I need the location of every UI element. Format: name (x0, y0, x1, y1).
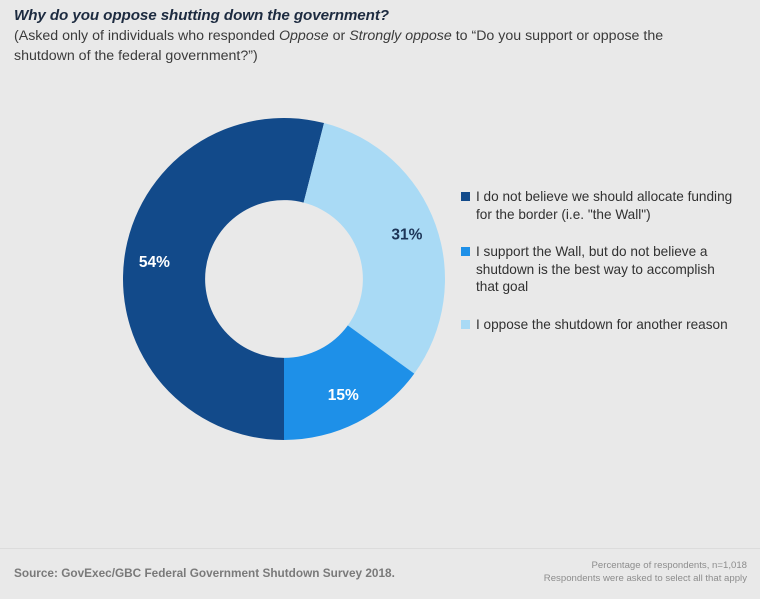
legend-item[interactable]: I do not believe we should allocate fund… (461, 188, 737, 223)
donut-svg: 54%31%15% (123, 118, 445, 440)
legend-item-label: I do not believe we should allocate fund… (476, 188, 737, 223)
respondents-note-line1: Percentage of respondents, n=1,018 (544, 560, 747, 573)
legend-swatch-icon (461, 192, 470, 201)
legend-item[interactable]: I support the Wall, but do not believe a… (461, 243, 737, 296)
legend-item-label: I support the Wall, but do not believe a… (476, 243, 737, 296)
legend-swatch-icon (461, 247, 470, 256)
chart-area: 54%31%15% I do not believe we should all… (0, 96, 760, 486)
donut-slice[interactable] (304, 123, 445, 374)
source-note: Source: GovExec/GBC Federal Government S… (14, 566, 395, 580)
respondents-note: Percentage of respondents, n=1,018 Respo… (544, 560, 747, 585)
respondents-note-line2: Respondents were asked to select all tha… (544, 573, 747, 586)
slice-value-label: 31% (391, 226, 422, 243)
legend-item-label: I oppose the shutdown for another reason (476, 316, 728, 334)
chart-legend: I do not believe we should allocate fund… (461, 188, 737, 333)
donut-chart: 54%31%15% (123, 118, 445, 440)
chart-header: Why do you oppose shutting down the gove… (14, 6, 744, 66)
slice-value-label: 54% (139, 254, 170, 271)
subtitle-emphasis: Strongly oppose (349, 28, 452, 44)
subtitle-text: (Asked only of individuals who responded (14, 28, 279, 44)
slice-value-label: 15% (328, 387, 359, 404)
subtitle-emphasis: Oppose (279, 28, 329, 44)
page-title: Why do you oppose shutting down the gove… (14, 6, 744, 25)
chart-footer: Source: GovExec/GBC Federal Government S… (0, 548, 760, 599)
legend-swatch-icon (461, 320, 470, 329)
subtitle-text: or (329, 28, 350, 44)
legend-item[interactable]: I oppose the shutdown for another reason (461, 316, 737, 334)
chart-subtitle: (Asked only of individuals who responded… (14, 27, 726, 66)
footer-divider (0, 548, 760, 549)
